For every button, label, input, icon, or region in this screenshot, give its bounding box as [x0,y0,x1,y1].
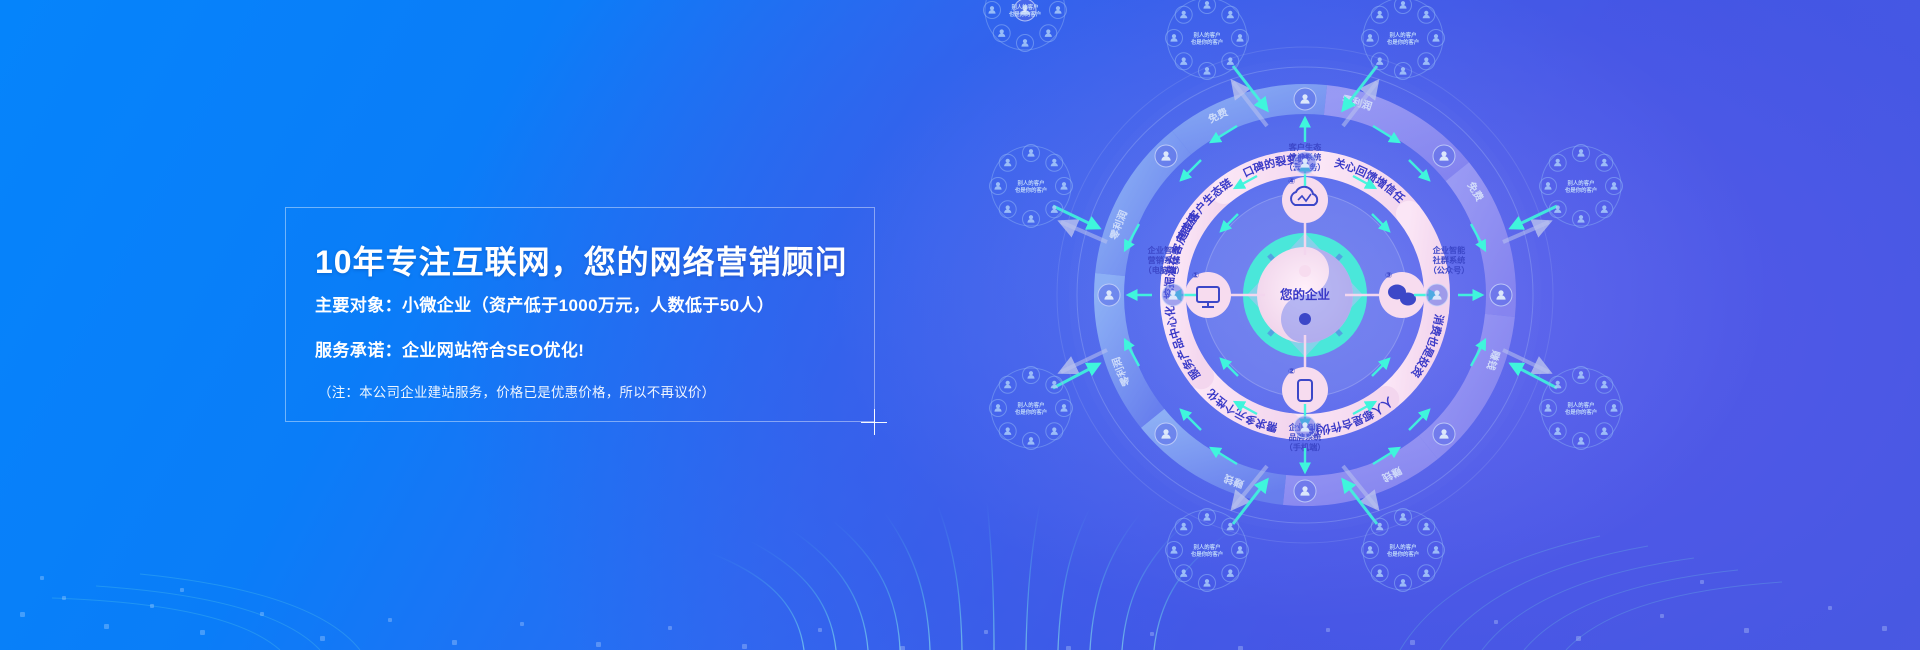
svg-text:企业智能社群系统（公众号）: 企业智能社群系统（公众号） [1429,245,1470,275]
svg-text:也是你的客户: 也是你的客户 [1009,10,1041,18]
page-title: 10年专注互联网，您的网络营销顾问 [315,237,848,283]
pricing-note: （注：本公司企业建站服务，价格已是优惠价格，所以不再议价） [318,381,715,401]
svg-text:③: ③ [1385,270,1392,280]
banner-stage: 10年专注互联网，您的网络营销顾问 主要对象：小微企业（资产低于1000万元，人… [0,0,1920,650]
marketing-ecosystem-diagram: 您的企业 ① ② [1025,10,1585,530]
service-promise-line: 服务承诺：企业网站符合SEO优化! [315,336,584,361]
svg-text:①: ① [1192,270,1199,280]
target-audience-line: 主要对象：小微企业（资产低于1000万元，人数低于50人） [315,291,774,316]
svg-text:别人的客户: 别人的客户 [1011,3,1039,11]
svg-text:②: ② [1288,366,1295,376]
svg-text:④: ④ [1288,176,1295,186]
center-label: 您的企业 [1280,287,1331,302]
